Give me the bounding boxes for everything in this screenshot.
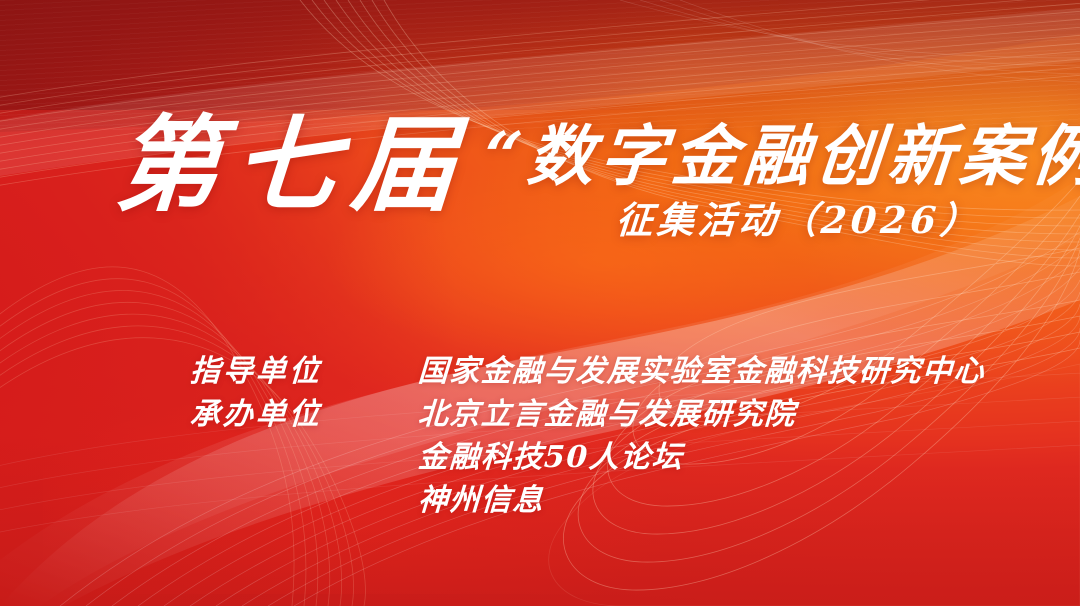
organizations-block: 指导单位 国家金融与发展实验室金融科技研究中心 承办单位 北京立言金融与发展研究… (0, 352, 1080, 524)
organization-value-guidance: 国家金融与发展实验室金融科技研究中心 (417, 352, 986, 392)
organizations-grid: 指导单位 国家金融与发展实验室金融科技研究中心 承办单位 北京立言金融与发展研究… (190, 352, 1020, 524)
organization-row: 神州信息 (190, 481, 1020, 524)
organization-value-host-1: 北京立言金融与发展研究院 (417, 395, 797, 435)
organization-label-host: 承办单位 (189, 395, 419, 435)
title-ordinal: 第七届 (112, 110, 474, 220)
organization-row: 指导单位 国家金融与发展实验室金融科技研究中心 (190, 352, 1020, 395)
organization-value-host-3: 神州信息 (417, 481, 545, 521)
title-block: 第七届 “数字金融创新案例” 征集活动（2026） (0, 104, 1080, 254)
organization-row: 承办单位 北京立言金融与发展研究院 (190, 395, 1020, 438)
title-quoted-theme: “数字金融创新案例” (481, 118, 1080, 194)
poster-banner: 第七届 “数字金融创新案例” 征集活动（2026） 指导单位 国家金融与发展实验… (0, 0, 1080, 606)
organization-value-host-2: 金融科技50人论坛 (417, 438, 684, 478)
poster-content: 第七届 “数字金融创新案例” 征集活动（2026） 指导单位 国家金融与发展实验… (0, 0, 1080, 606)
organization-row: 金融科技50人论坛 (190, 438, 1020, 481)
organization-label-guidance: 指导单位 (189, 352, 419, 392)
title-subtitle: 征集活动（2026） (614, 196, 982, 244)
